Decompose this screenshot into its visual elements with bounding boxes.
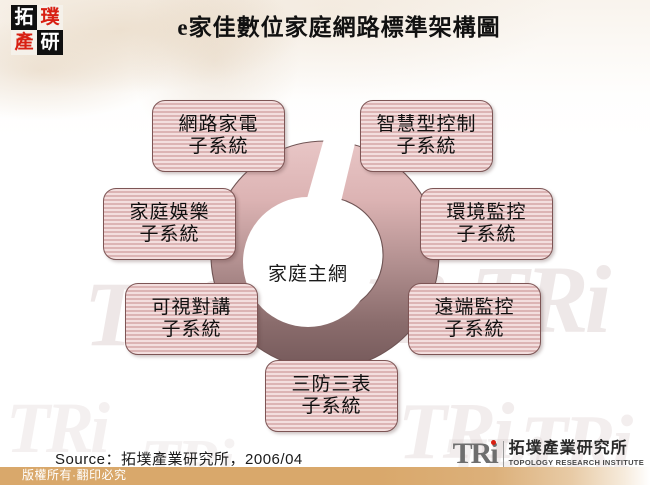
node-label-line2: 子系統 xyxy=(161,319,221,341)
node-label-line2: 子系統 xyxy=(396,136,456,158)
copyright-text: 版權所有·翻印必究 xyxy=(22,466,127,483)
node-three-meter[interactable]: 三防三表 子系統 xyxy=(265,360,398,432)
node-label-line2: 子系統 xyxy=(188,136,248,158)
node-label-line1: 可視對講 xyxy=(151,297,231,319)
node-label-line1: 家庭娛樂 xyxy=(129,202,209,224)
diagram-hub: 家庭主網 xyxy=(243,197,373,327)
node-home-entertainment[interactable]: 家庭娛樂 子系統 xyxy=(103,188,236,260)
tri-wordmark: TRi xyxy=(453,439,501,469)
node-label-line2: 子系統 xyxy=(301,396,361,418)
node-label-line1: 三防三表 xyxy=(291,374,371,396)
node-label-line1: 環境監控 xyxy=(446,202,526,224)
tri-red-dot-icon xyxy=(491,440,496,445)
logo-wordblock: 拓墣產業研究所 TOPOLOGY RESEARCH INSTITUTE xyxy=(509,441,644,467)
node-label-line2: 子系統 xyxy=(444,319,504,341)
hub-label: 家庭主網 xyxy=(268,259,348,286)
logo-chinese-name: 拓墣產業研究所 xyxy=(509,441,644,457)
node-intelligent-control[interactable]: 智慧型控制 子系統 xyxy=(360,100,493,172)
node-label-line1: 遠端監控 xyxy=(434,297,514,319)
node-label-line2: 子系統 xyxy=(456,224,516,246)
node-label-line1: 智慧型控制 xyxy=(376,114,476,136)
logo-divider xyxy=(503,441,504,467)
node-label-line2: 子系統 xyxy=(139,224,199,246)
logo-english-name: TOPOLOGY RESEARCH INSTITUTE xyxy=(509,459,644,467)
node-video-intercom[interactable]: 可視對講 子系統 xyxy=(125,283,258,355)
tri-footer-logo: TRi 拓墣產業研究所 TOPOLOGY RESEARCH INSTITUTE xyxy=(453,439,644,469)
node-network-appliance[interactable]: 網路家電 子系統 xyxy=(152,100,285,172)
node-remote-monitor[interactable]: 遠端監控 子系統 xyxy=(408,283,541,355)
node-label-line1: 網路家電 xyxy=(178,114,258,136)
slide-title: e家佳數位家庭網路標準架構圖 xyxy=(0,8,650,42)
node-environment-monitor[interactable]: 環境監控 子系統 xyxy=(420,188,553,260)
slide-canvas: TRi TRi TRi TRi TRi TRi TRi TRi 拓 璞 產 研 … xyxy=(0,0,650,485)
